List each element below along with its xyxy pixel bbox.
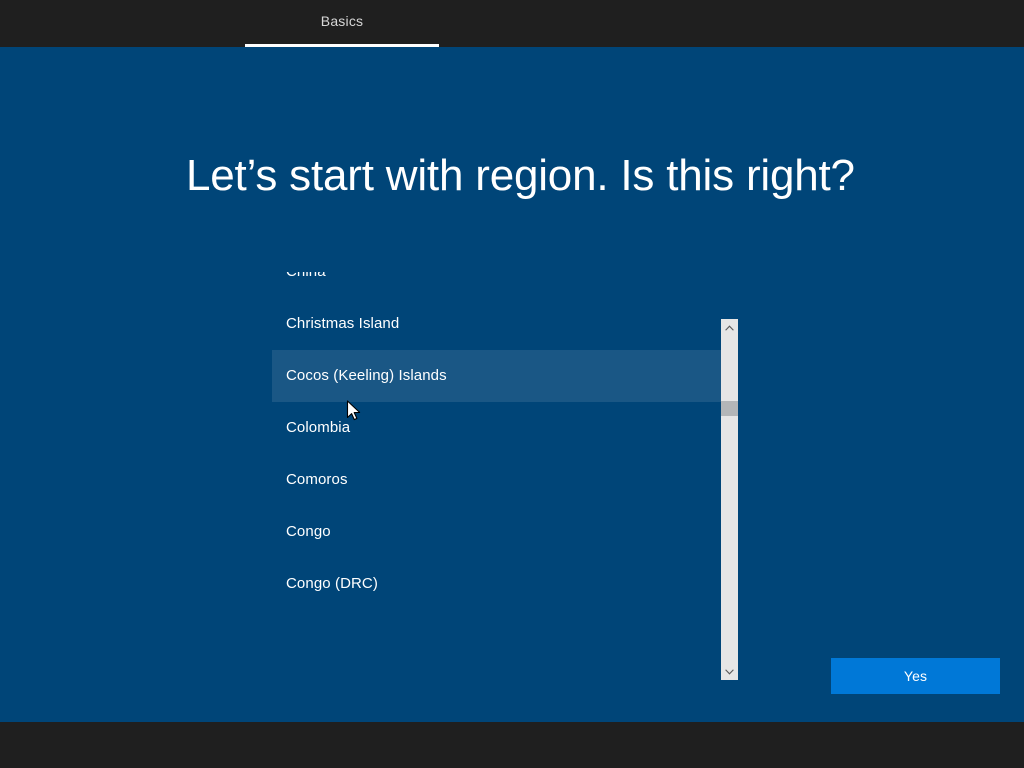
page-title: Let’s start with region. Is this right? bbox=[186, 151, 886, 201]
region-label: Congo (DRC) bbox=[286, 575, 378, 592]
region-picker: China Christmas Island Cocos (Keeling) I… bbox=[272, 272, 752, 640]
tab-basics-label: Basics bbox=[321, 14, 363, 34]
list-item[interactable]: Christmas Island bbox=[272, 298, 738, 350]
list-item[interactable]: Colombia bbox=[272, 402, 738, 454]
chevron-down-icon[interactable] bbox=[721, 663, 738, 680]
region-label: Congo bbox=[286, 523, 331, 540]
bottom-bar bbox=[0, 722, 1024, 768]
tab-basics[interactable]: Basics bbox=[245, 0, 439, 47]
list-item[interactable]: Congo (DRC) bbox=[272, 558, 738, 610]
main-content-area: Let’s start with region. Is this right? … bbox=[0, 47, 1024, 722]
region-label: Comoros bbox=[286, 471, 348, 488]
list-item[interactable]: Congo bbox=[272, 506, 738, 558]
top-header-bar: Basics bbox=[0, 0, 1024, 47]
region-label: China bbox=[286, 272, 326, 280]
yes-button[interactable]: Yes bbox=[831, 658, 1000, 694]
chevron-up-icon[interactable] bbox=[721, 319, 738, 336]
list-item[interactable]: China bbox=[272, 272, 738, 298]
scrollbar-thumb[interactable] bbox=[721, 401, 738, 416]
region-list[interactable]: China Christmas Island Cocos (Keeling) I… bbox=[272, 272, 738, 640]
region-list-scrollbar[interactable] bbox=[721, 319, 738, 680]
list-item[interactable]: Comoros bbox=[272, 454, 738, 506]
region-label: Christmas Island bbox=[286, 315, 399, 332]
region-label: Colombia bbox=[286, 419, 350, 436]
list-item-selected[interactable]: Cocos (Keeling) Islands bbox=[272, 350, 738, 402]
region-label: Cocos (Keeling) Islands bbox=[286, 367, 447, 384]
oobe-screen: Basics Let’s start with region. Is this … bbox=[0, 0, 1024, 768]
